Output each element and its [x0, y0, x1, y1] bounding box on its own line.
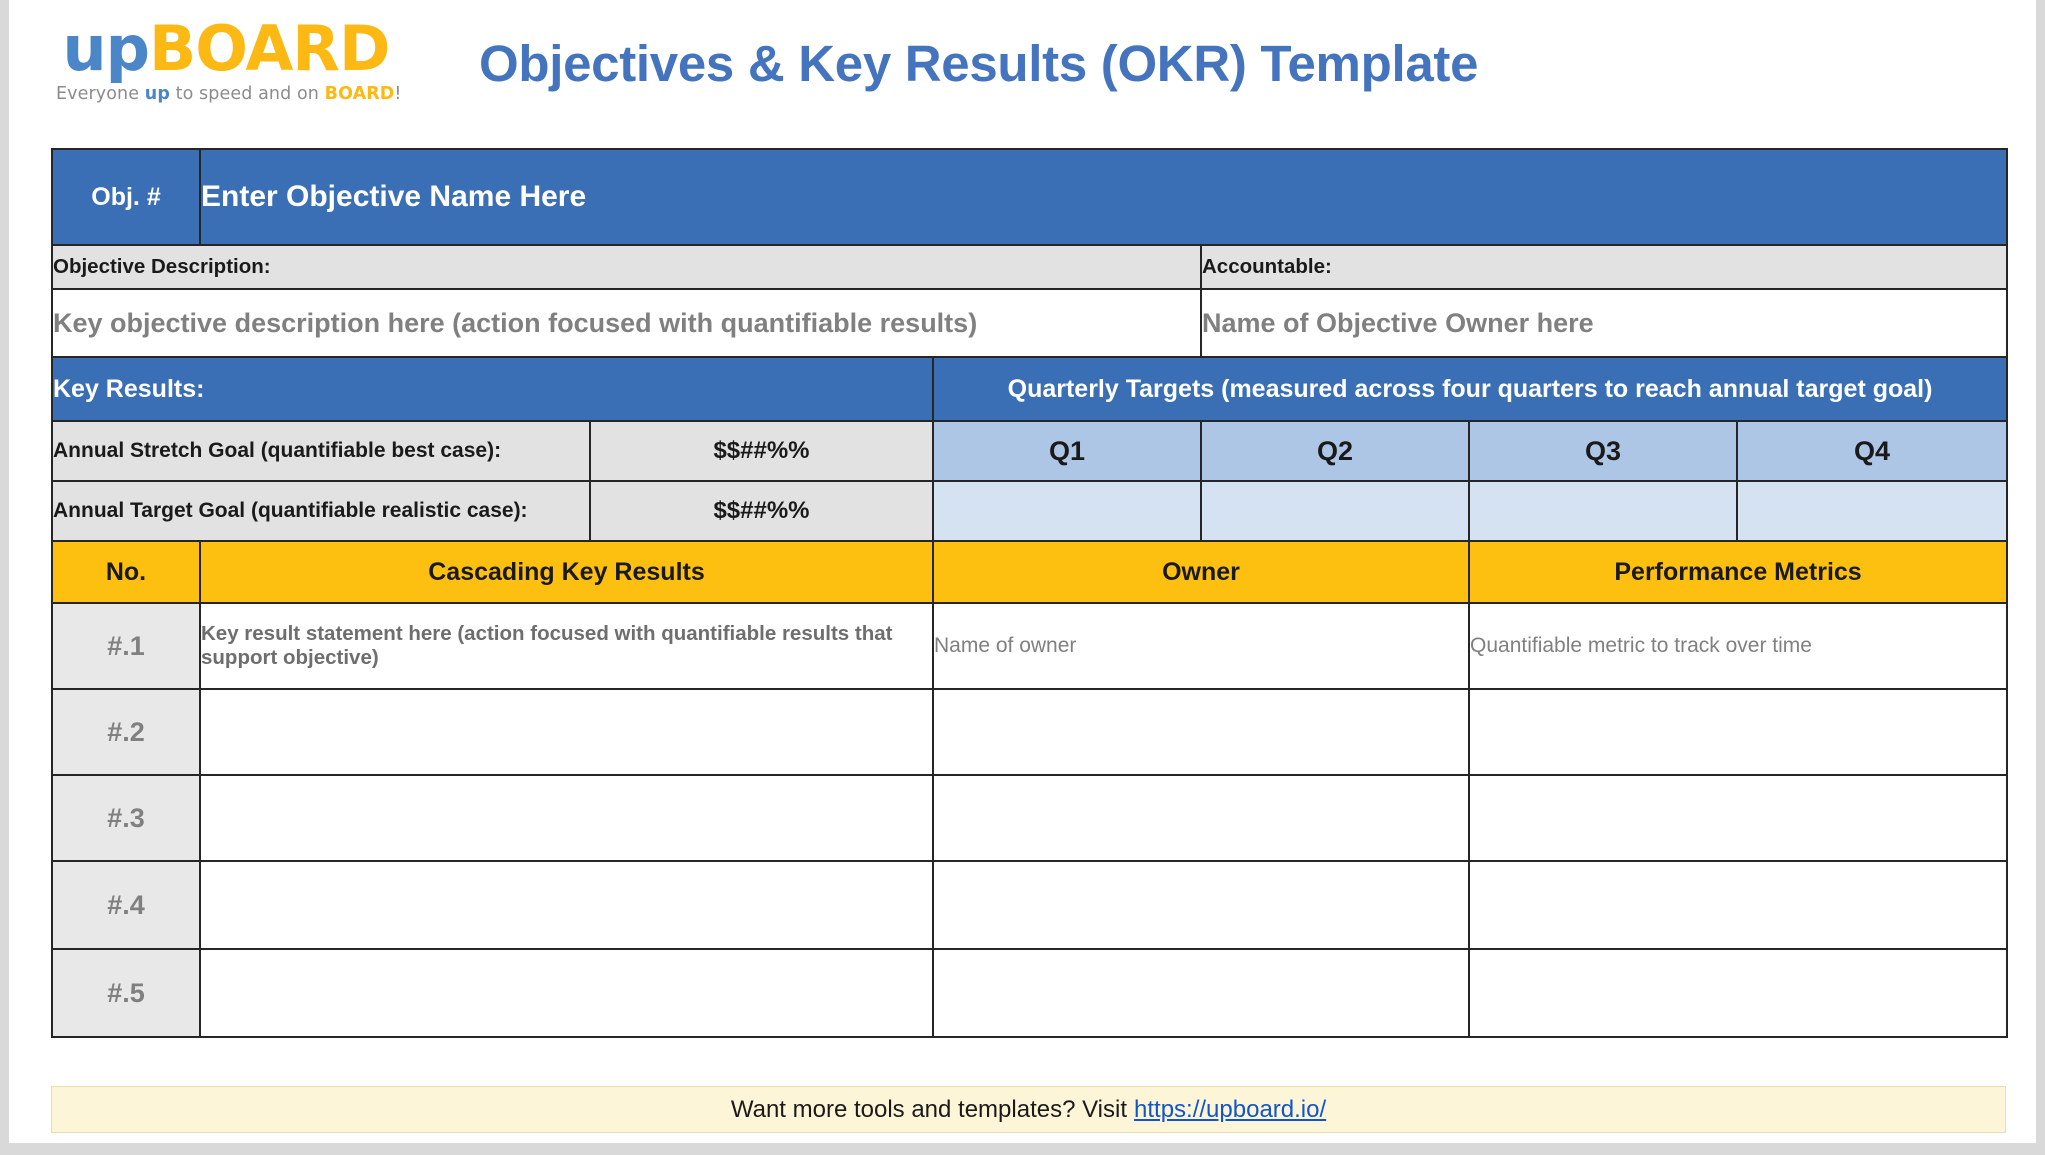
quarter-input-q4[interactable] — [1737, 481, 2007, 541]
row-number-5: #.5 — [52, 949, 200, 1037]
objective-description-input[interactable]: Key objective description here (action f… — [52, 289, 1201, 357]
column-header-no: No. — [52, 541, 200, 603]
annual-stretch-goal-value[interactable]: $$##%% — [590, 421, 933, 481]
owner-input-3[interactable] — [933, 775, 1469, 861]
key-result-input-3[interactable] — [200, 775, 933, 861]
row-number-2: #.2 — [52, 689, 200, 775]
table-row: #.3 — [52, 775, 2007, 861]
page-title: Objectives & Key Results (OKR) Template — [479, 34, 1478, 93]
upboard-link[interactable]: https://upboard.io/ — [1134, 1096, 1326, 1124]
annual-target-goal-label: Annual Target Goal (quantifiable realist… — [52, 481, 590, 541]
quarter-header-q2: Q2 — [1201, 421, 1469, 481]
accountable-label: Accountable: — [1201, 245, 2007, 289]
column-header-cascading-key-results: Cascading Key Results — [200, 541, 933, 603]
tagline-up: up — [145, 84, 170, 104]
quarterly-targets-label: Quarterly Targets (measured across four … — [933, 357, 2007, 421]
annual-stretch-goal-label: Annual Stretch Goal (quantifiable best c… — [52, 421, 590, 481]
upboard-logo[interactable]: upBOARD Everyone up to speed and on BOAR… — [56, 18, 396, 104]
document-header: upBOARD Everyone up to speed and on BOAR… — [9, 0, 2036, 140]
column-header-owner: Owner — [933, 541, 1469, 603]
cascading-header-row: No. Cascading Key Results Owner Performa… — [52, 541, 2007, 603]
key-result-input-2[interactable] — [200, 689, 933, 775]
quarter-header-q4: Q4 — [1737, 421, 2007, 481]
footer-promo: Want more tools and templates? Visit htt… — [51, 1086, 2006, 1133]
metric-input-1[interactable]: Quantifiable metric to track over time — [1469, 603, 2007, 689]
key-results-section-label: Key Results: — [52, 357, 933, 421]
row-number-3: #.3 — [52, 775, 200, 861]
logo-up-text: up — [62, 12, 149, 85]
okr-table: Obj. # Enter Objective Name Here Objecti… — [51, 148, 2008, 1038]
objective-title-row: Obj. # Enter Objective Name Here — [52, 149, 2007, 245]
logo-tagline: Everyone up to speed and on BOARD! — [56, 84, 396, 104]
metric-input-2[interactable] — [1469, 689, 2007, 775]
table-row: #.1 Key result statement here (action fo… — [52, 603, 2007, 689]
column-header-performance-metrics: Performance Metrics — [1469, 541, 2007, 603]
annual-target-goal-row: Annual Target Goal (quantifiable realist… — [52, 481, 2007, 541]
tagline-mid: to speed and on — [170, 84, 325, 104]
quarter-input-q1[interactable] — [933, 481, 1201, 541]
metric-input-3[interactable] — [1469, 775, 2007, 861]
objective-description-label: Objective Description: — [52, 245, 1201, 289]
objective-number-label: Obj. # — [52, 149, 200, 245]
accountable-input[interactable]: Name of Objective Owner here — [1201, 289, 2007, 357]
owner-input-1[interactable]: Name of owner — [933, 603, 1469, 689]
key-result-input-5[interactable] — [200, 949, 933, 1037]
tagline-board: BOARD — [325, 84, 395, 104]
table-row: #.2 — [52, 689, 2007, 775]
key-results-banner-row: Key Results: Quarterly Targets (measured… — [52, 357, 2007, 421]
objective-meta-value-row: Key objective description here (action f… — [52, 289, 2007, 357]
owner-input-2[interactable] — [933, 689, 1469, 775]
owner-input-4[interactable] — [933, 861, 1469, 949]
objective-meta-label-row: Objective Description: Accountable: — [52, 245, 2007, 289]
metric-input-5[interactable] — [1469, 949, 2007, 1037]
table-row: #.5 — [52, 949, 2007, 1037]
quarter-input-q3[interactable] — [1469, 481, 1737, 541]
document-sheet: upBOARD Everyone up to speed and on BOAR… — [9, 0, 2036, 1143]
annual-stretch-goal-row: Annual Stretch Goal (quantifiable best c… — [52, 421, 2007, 481]
quarter-header-q3: Q3 — [1469, 421, 1737, 481]
objective-name-input[interactable]: Enter Objective Name Here — [200, 149, 2007, 245]
logo-wordmark: upBOARD — [56, 18, 396, 80]
metric-input-4[interactable] — [1469, 861, 2007, 949]
annual-target-goal-value[interactable]: $$##%% — [590, 481, 933, 541]
tagline-post: ! — [394, 84, 401, 104]
quarter-header-q1: Q1 — [933, 421, 1201, 481]
owner-input-5[interactable] — [933, 949, 1469, 1037]
tagline-pre: Everyone — [56, 84, 145, 104]
table-row: #.4 — [52, 861, 2007, 949]
okr-template-page: upBOARD Everyone up to speed and on BOAR… — [0, 0, 2045, 1155]
logo-board-text: BOARD — [149, 12, 390, 85]
row-number-1: #.1 — [52, 603, 200, 689]
key-result-input-4[interactable] — [200, 861, 933, 949]
footer-text: Want more tools and templates? Visit — [731, 1096, 1127, 1124]
row-number-4: #.4 — [52, 861, 200, 949]
key-result-input-1[interactable]: Key result statement here (action focuse… — [200, 603, 933, 689]
quarter-input-q2[interactable] — [1201, 481, 1469, 541]
